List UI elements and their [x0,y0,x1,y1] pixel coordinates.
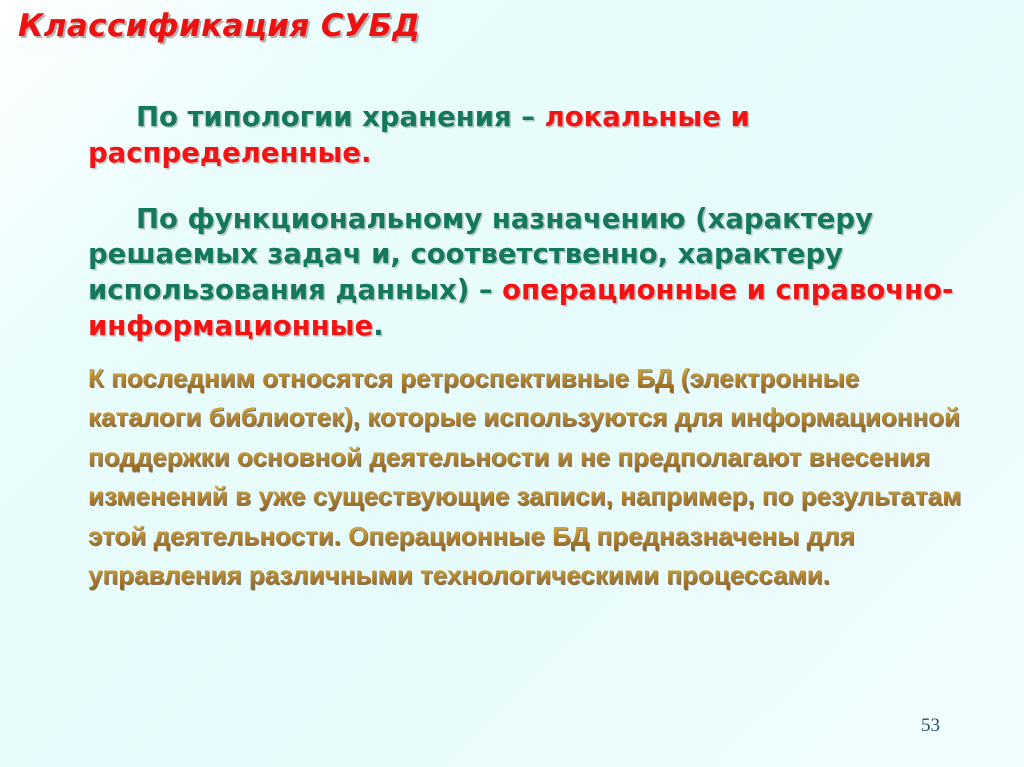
page-title: Классификация СУБД [18,8,998,44]
text-run-green-period: . [373,310,383,342]
paragraph-functional-purpose: По функциональному назначению (характеру… [88,202,968,345]
paragraph-storage-typology: По типологии хранения – локальные и расп… [88,100,968,172]
slide-body: По типологии хранения – локальные и расп… [88,100,968,610]
presentation-slide: Классификация СУБД По типологии хранения… [0,0,1024,767]
slide-title-area: Классификация СУБД [18,8,998,64]
slide-number: 53 [921,715,940,737]
text-run-gold: К последним относятся ретроспективные БД… [88,363,961,591]
paragraph-retrospective-databases: К последним относятся ретроспективные БД… [88,359,968,596]
text-run-green: По типологии хранения – [136,101,545,133]
